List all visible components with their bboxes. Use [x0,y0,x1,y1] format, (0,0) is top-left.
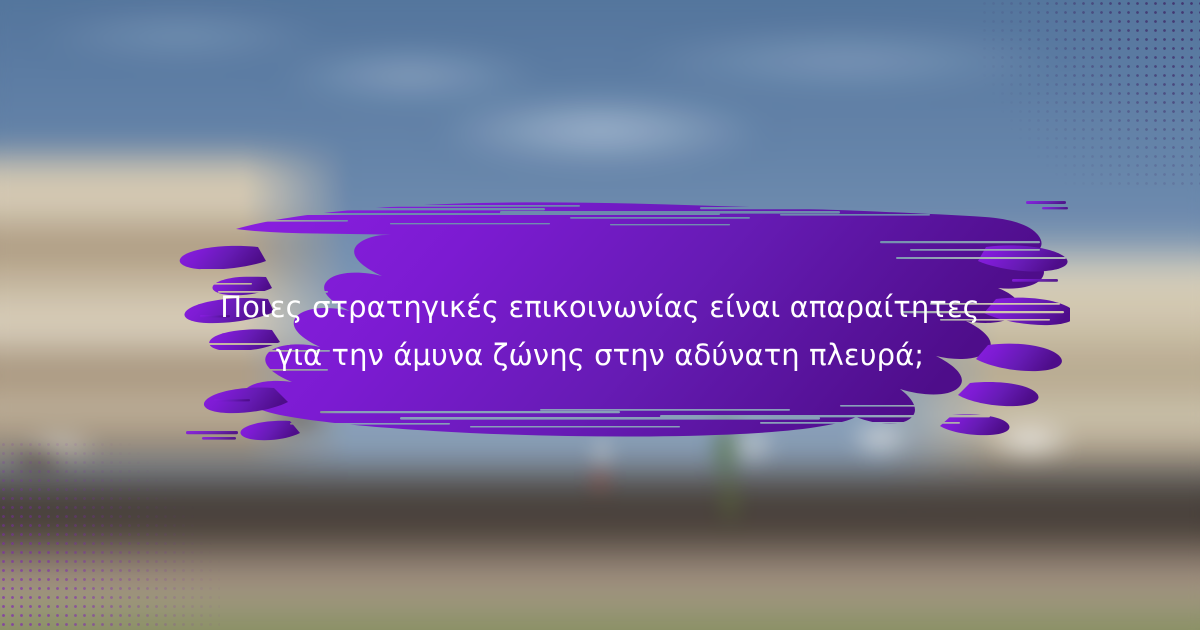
brush-stroke-icon [140,183,1070,445]
halftone-dots-bottom-left-icon [0,440,220,630]
brush-stroke-banner [140,183,1070,445]
halftone-dots-top-right-icon [980,0,1200,190]
social-card: Ποιες στρατηγικές επικοινωνίας είναι απα… [0,0,1200,630]
